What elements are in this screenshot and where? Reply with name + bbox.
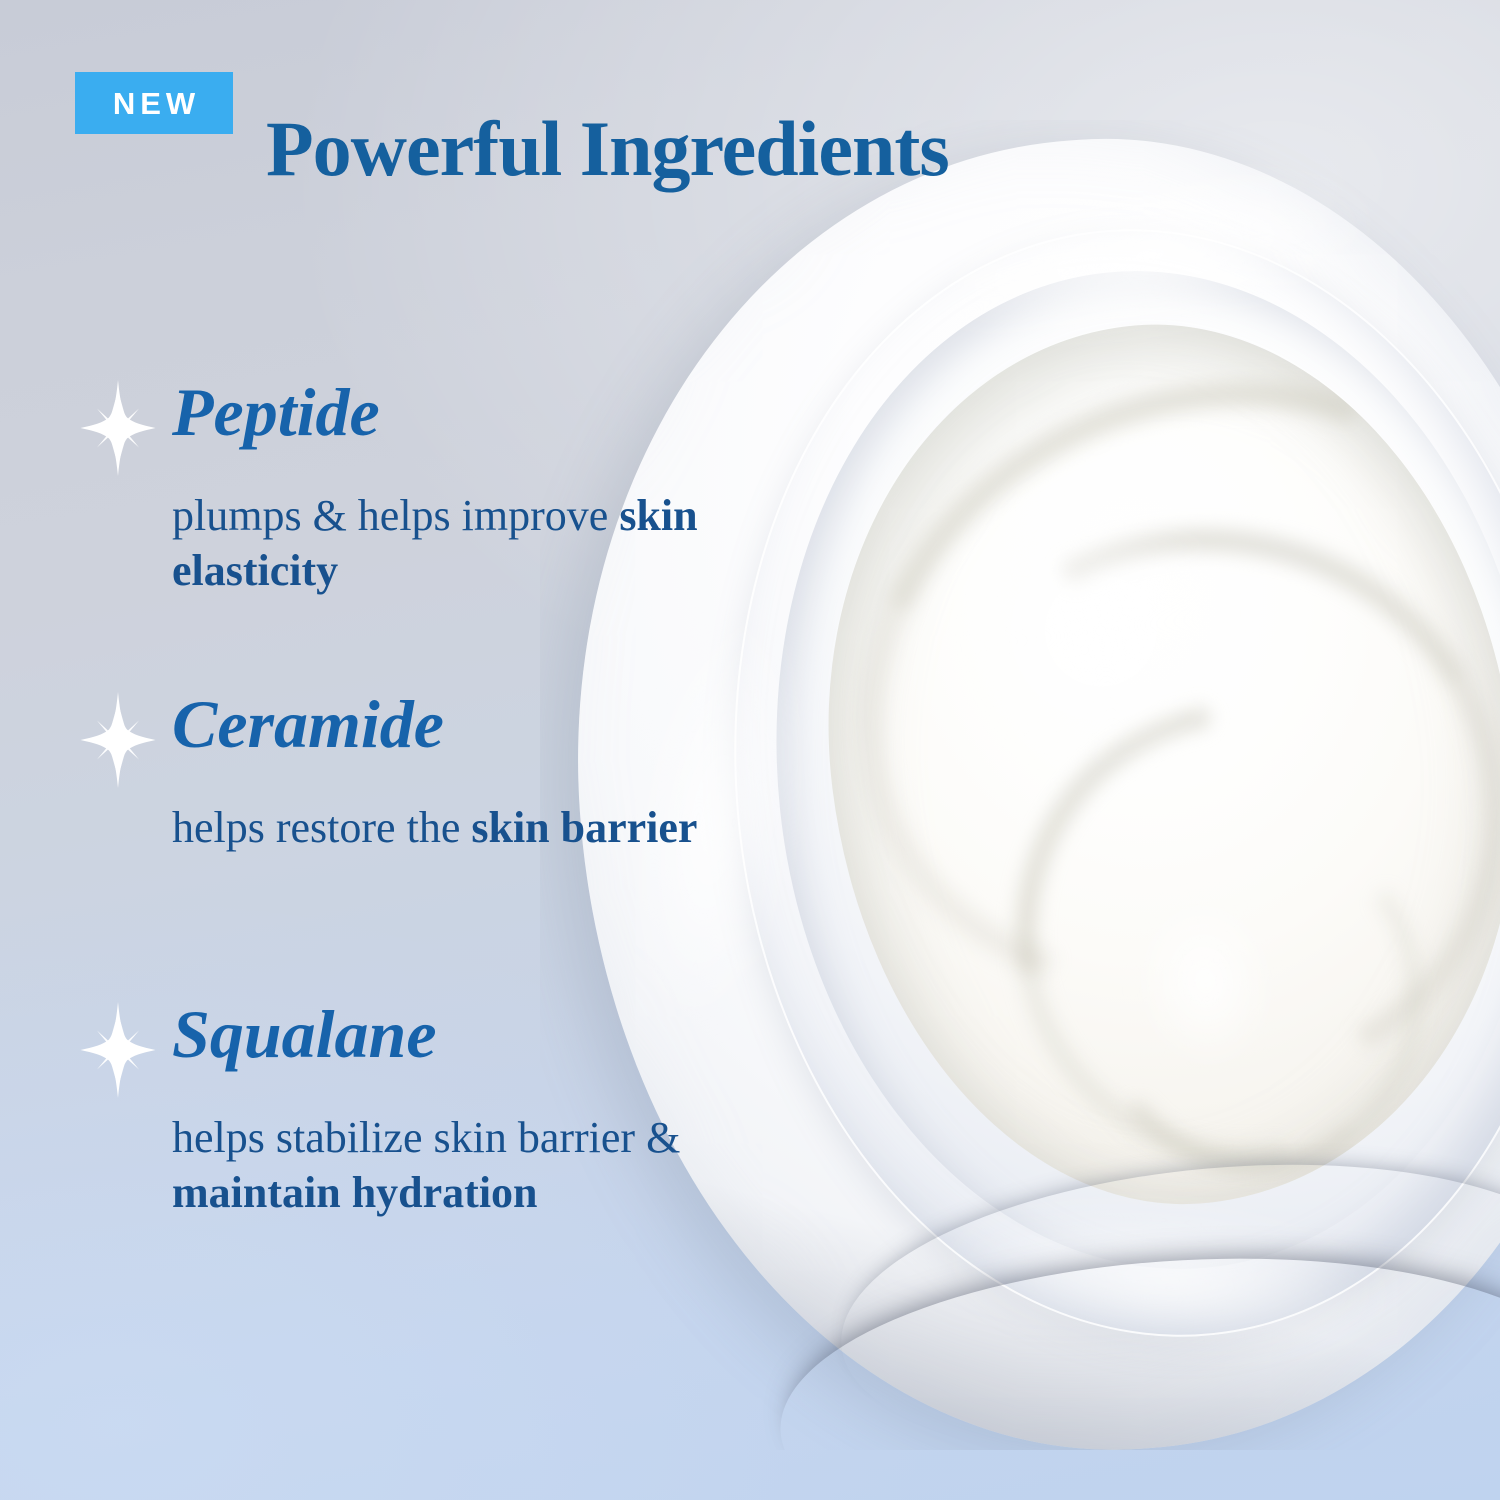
cream-gloss-highlight <box>904 435 1298 827</box>
page-title: Powerful Ingredients <box>266 108 949 190</box>
ingredient-description-bold: skin barrier <box>471 803 697 852</box>
jar-inner-lip <box>680 187 1500 1379</box>
jar-contact-shadow <box>773 1239 1500 1450</box>
jar-inner-lip-step <box>728 233 1500 1307</box>
jar-gloss-bottom <box>862 1159 1478 1401</box>
ingredient-description-bold: maintain hydration <box>172 1168 538 1217</box>
promo-graphic: NEW Powerful Ingredients Peptide plumps … <box>0 0 1500 1500</box>
ingredient-description: helps stabilize skin barrier & maintain … <box>172 1110 732 1221</box>
ingredient-description: helps restore the skin barrier <box>172 800 732 855</box>
jar-outer-body <box>540 120 1500 1450</box>
ingredient-name: Squalane <box>172 1000 437 1068</box>
jar-rim-shadow <box>540 120 1500 1450</box>
sparkle-star-icon <box>80 692 156 788</box>
jar-contact-shadow-secondary <box>829 1135 1500 1450</box>
cream-swirl-core <box>1073 807 1444 1194</box>
ingredient-description-plain: plumps & helps improve <box>172 491 619 540</box>
cream-swirl-inner <box>926 613 1500 1242</box>
cream-swirl-mid <box>857 464 1500 1152</box>
ingredient-name: Ceramide <box>172 690 444 758</box>
sparkle-star-icon <box>80 380 156 476</box>
new-badge: NEW <box>75 72 233 134</box>
sparkle-star-icon <box>80 1002 156 1098</box>
ingredient-description: plumps & helps improve skin elasticity <box>172 488 732 599</box>
cream-surface <box>781 286 1500 1242</box>
cream-peak-highlight <box>1104 857 1307 1106</box>
cream-swirl-outer <box>781 286 1500 1102</box>
ingredient-name: Peptide <box>172 378 380 446</box>
ingredient-description-plain: helps restore the <box>172 803 471 852</box>
product-image-cream-jar <box>540 120 1500 1450</box>
ingredient-description-plain: helps stabilize skin barrier & <box>172 1113 680 1162</box>
